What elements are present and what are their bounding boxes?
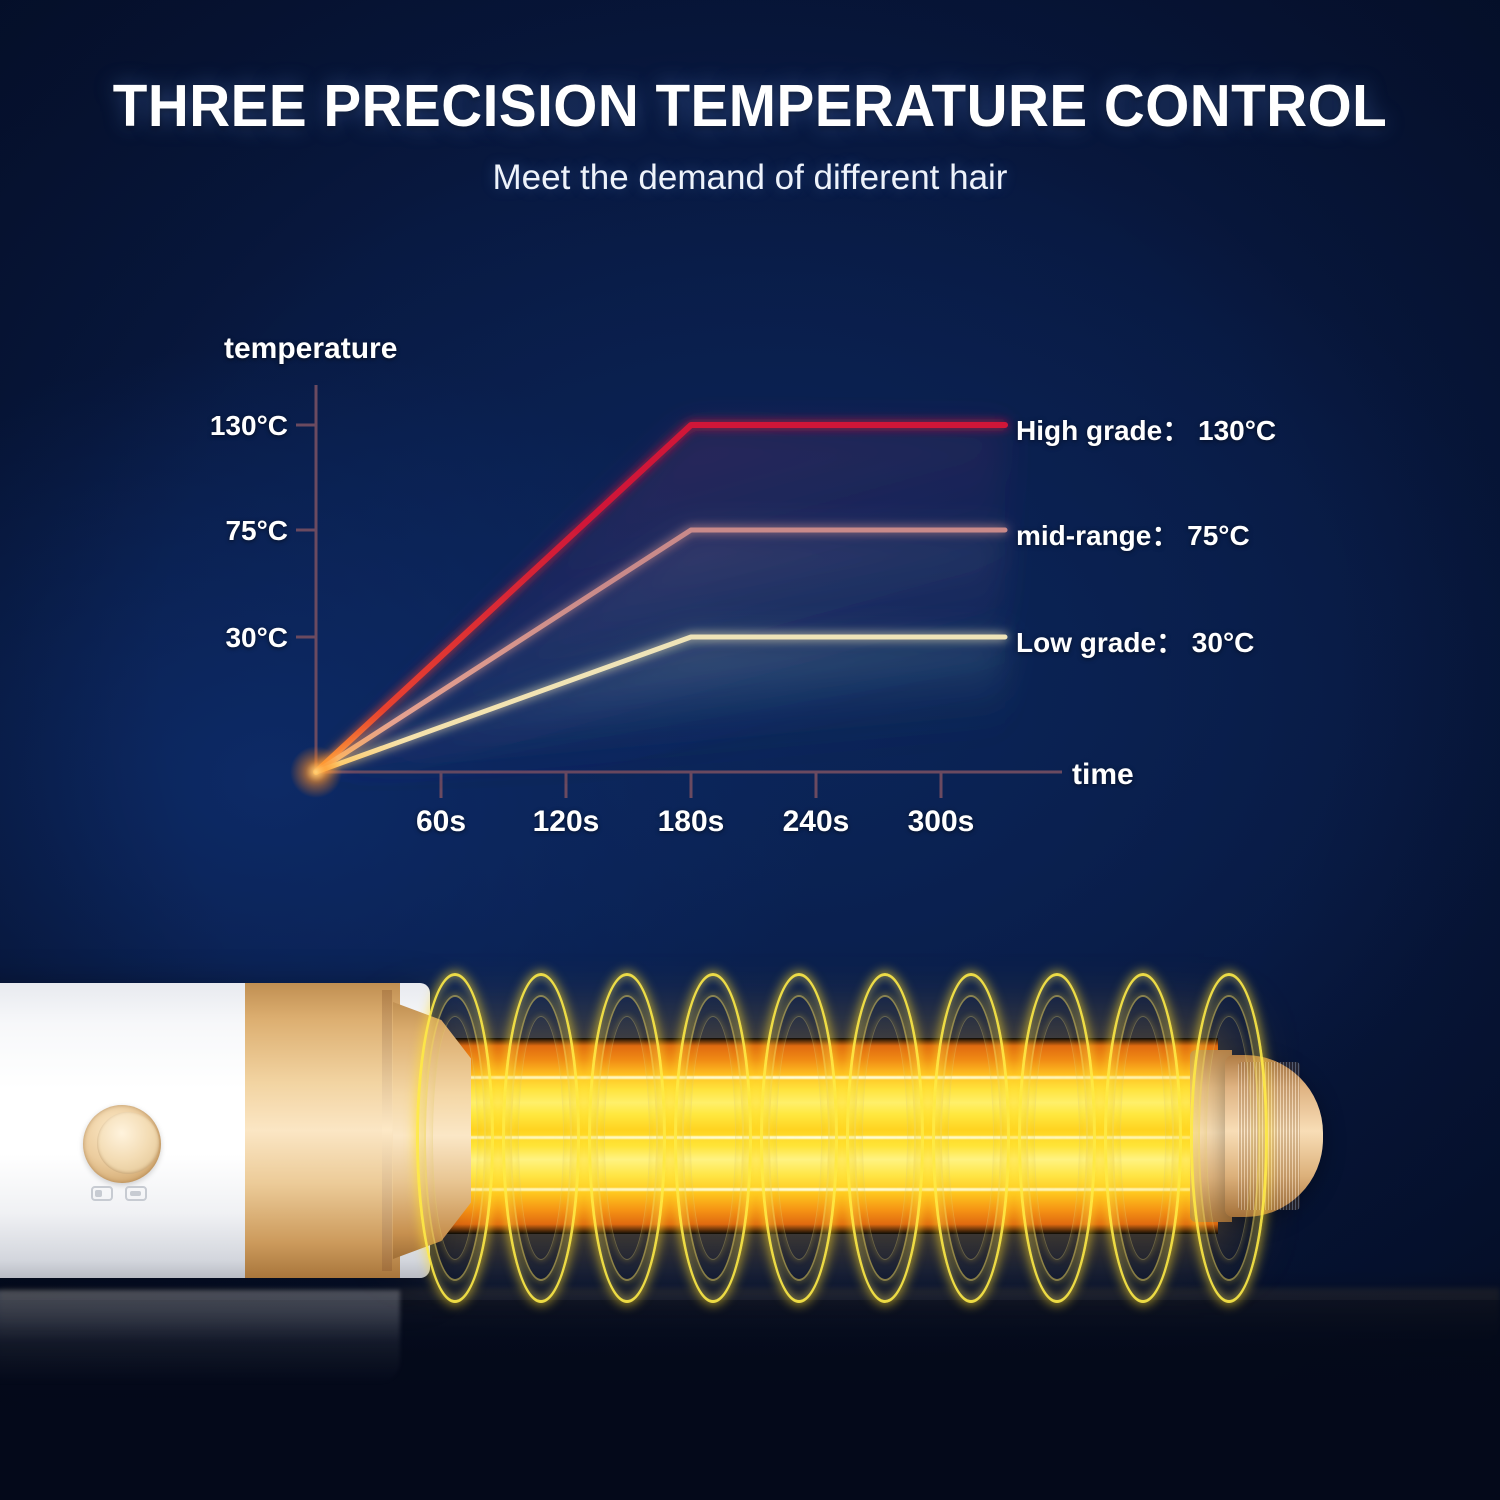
- y-axis-title: temperature: [224, 332, 397, 366]
- barrel-highlight-center: [418, 1136, 1218, 1139]
- y-tick-label-30: 30°C: [168, 622, 288, 654]
- legend-label-low-grade: Low grade： 30°C: [1016, 621, 1254, 661]
- power-button-inner-ring[interactable]: [97, 1112, 159, 1174]
- x-tick-label-120: 120s: [506, 805, 626, 839]
- page-subtitle: Meet the demand of different hair: [0, 158, 1500, 198]
- handle-seam-ring: [382, 990, 392, 1271]
- page-title: THREE PRECISION TEMPERATURE CONTROL: [30, 72, 1470, 140]
- origin-glow: [290, 746, 342, 798]
- product-illustration: [0, 900, 1500, 1500]
- y-tick-label-75: 75°C: [168, 515, 288, 547]
- x-axis-title: time: [1072, 758, 1134, 792]
- heat-setting-icon: [91, 1186, 113, 1201]
- x-tick-label-180: 180s: [631, 805, 751, 839]
- barrel-highlight-upper: [418, 1076, 1218, 1079]
- speed-setting-icon: [125, 1186, 147, 1201]
- x-tick-label-300: 300s: [881, 805, 1001, 839]
- handle-gold-band: [245, 983, 400, 1278]
- legend-label-high-grade: High grade： 130°C: [1016, 409, 1276, 449]
- x-tick-label-60: 60s: [381, 805, 501, 839]
- barrel-highlight-lower: [418, 1188, 1218, 1191]
- header: THREE PRECISION TEMPERATURE CONTROL Meet…: [0, 72, 1500, 198]
- y-tick-label-130: 130°C: [168, 410, 288, 442]
- legend-label-mid-range: mid-range： 75°C: [1016, 514, 1250, 554]
- x-tick-label-240: 240s: [756, 805, 876, 839]
- barrel-tip-ridges: [1238, 1062, 1300, 1210]
